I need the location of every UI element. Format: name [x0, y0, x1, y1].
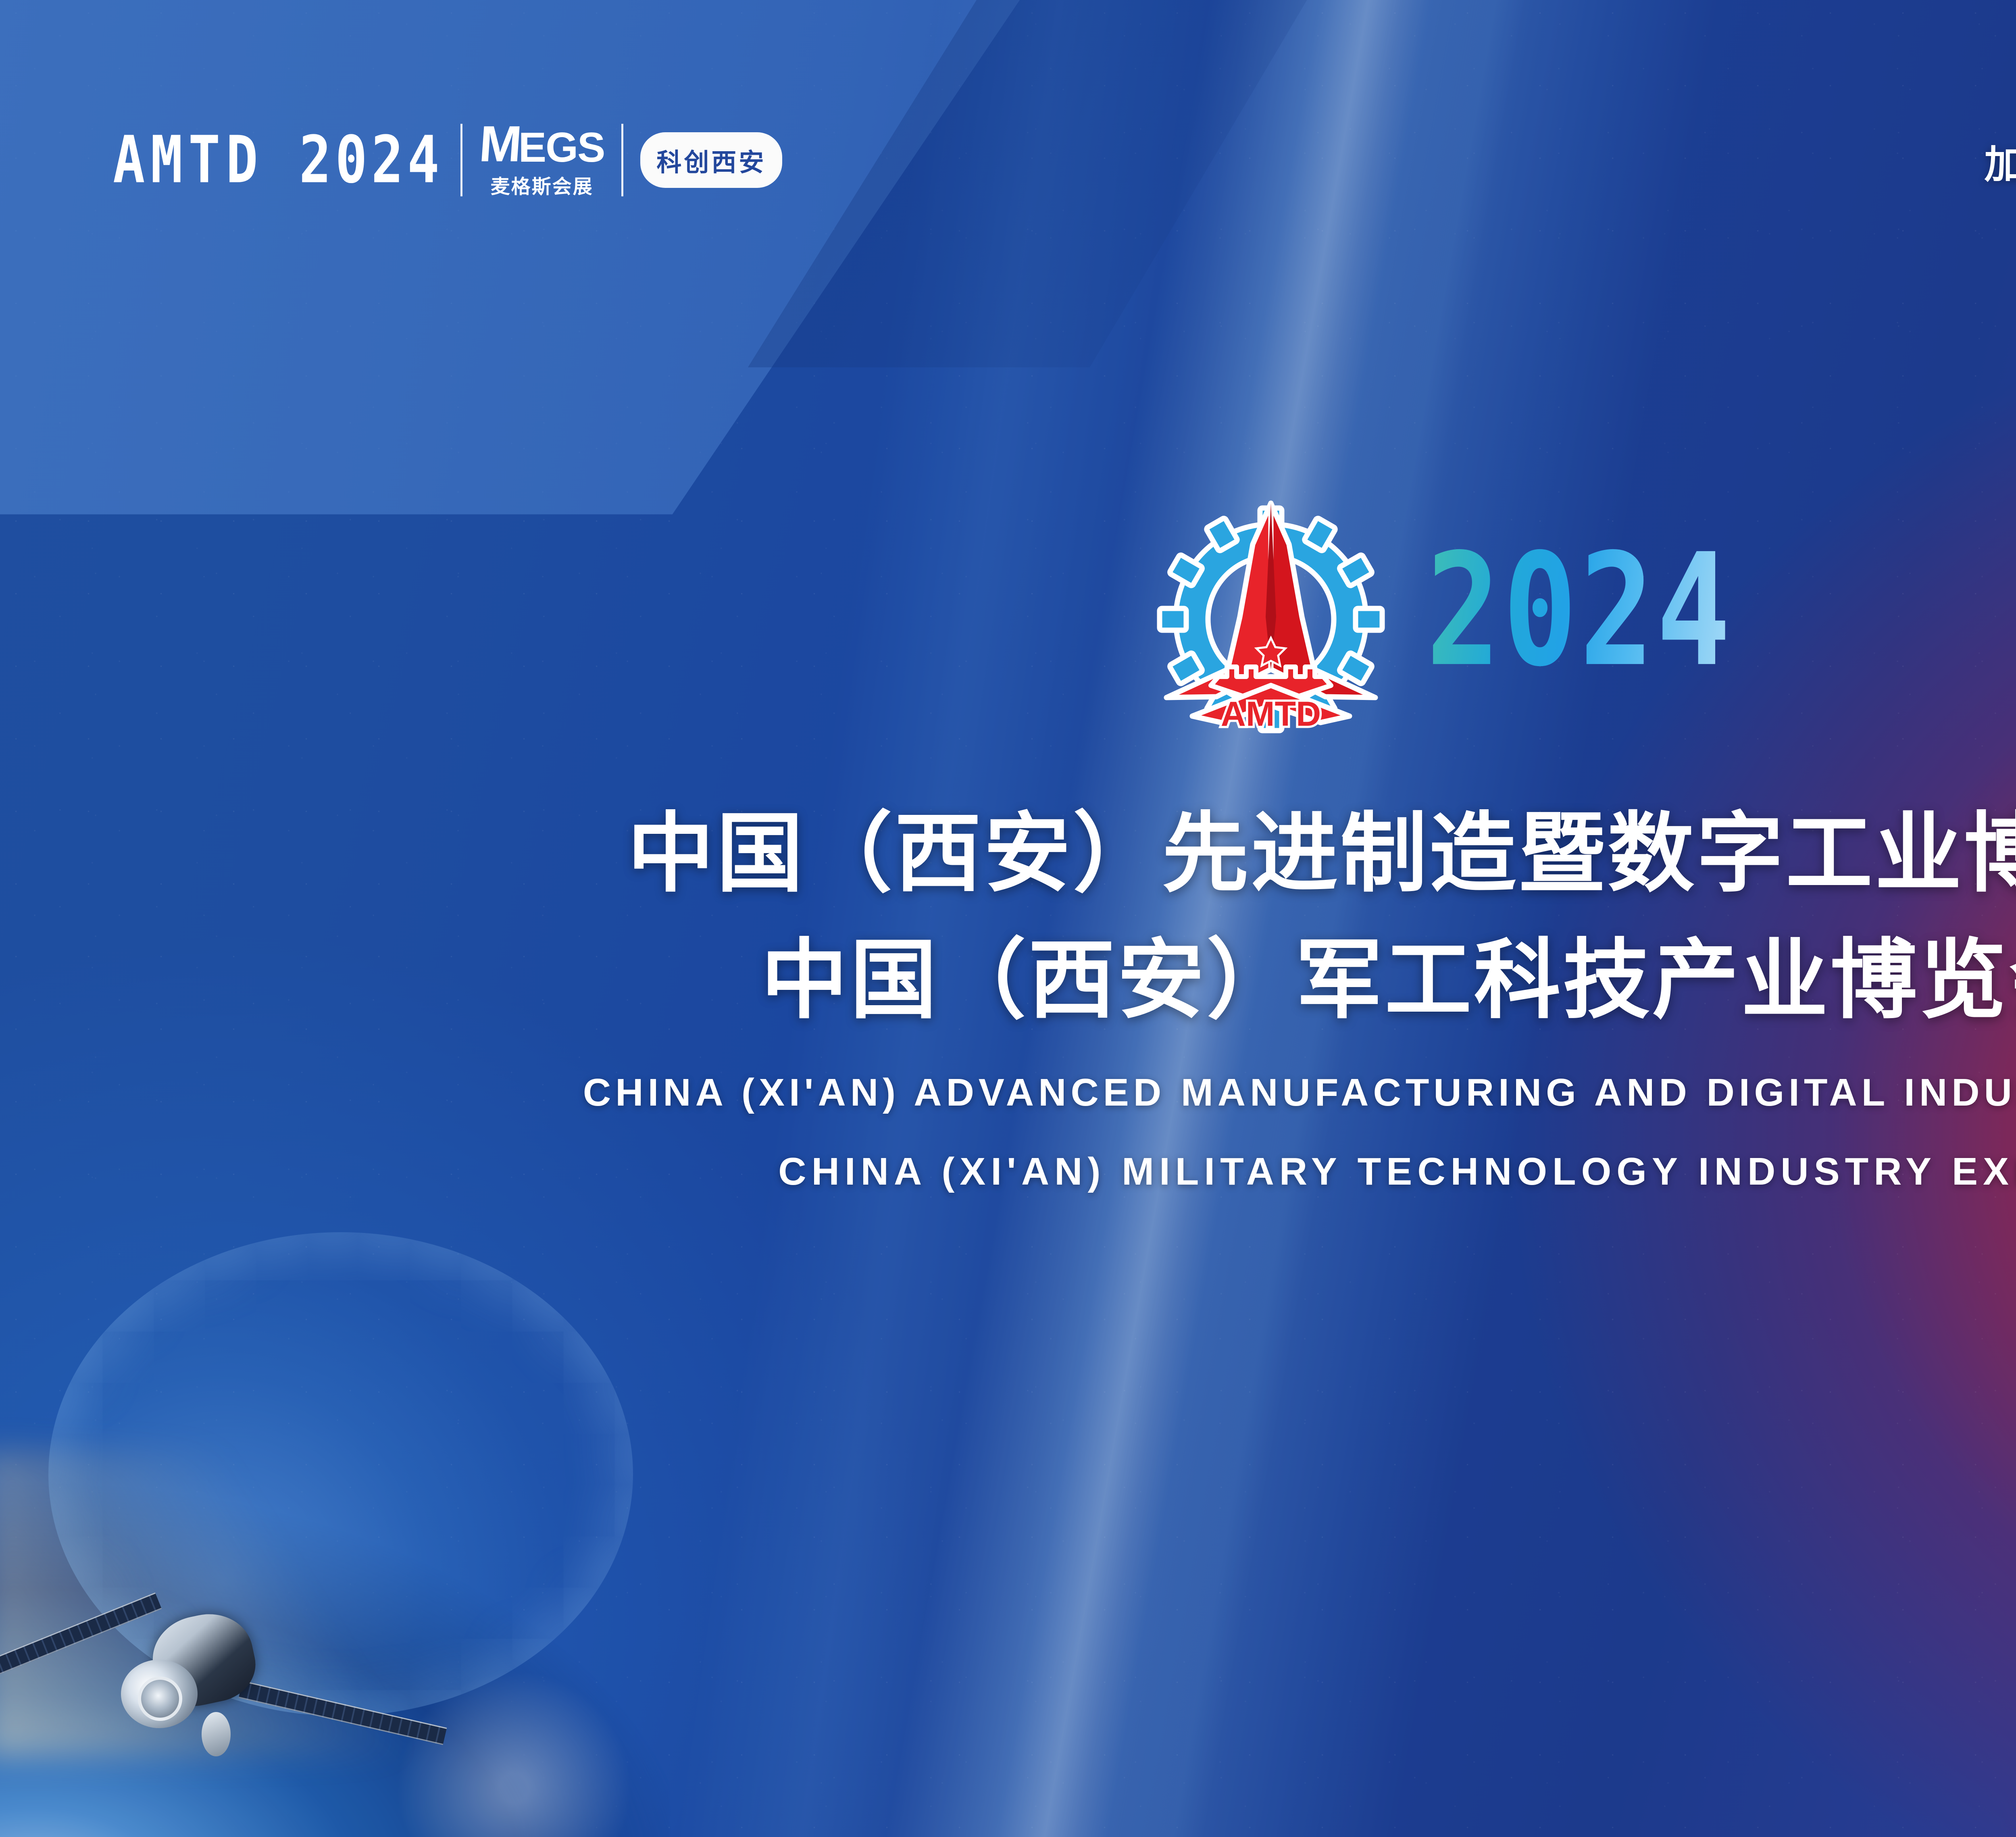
- satellite-icon: [69, 1559, 375, 1785]
- docking-ring: [138, 1677, 182, 1721]
- satellite-antenna: [202, 1712, 231, 1756]
- title-cn-line-1: 中国（西安）先进制造暨数字工业博览会: [0, 790, 2016, 917]
- kechuang-xian-badge: 科创西安: [640, 132, 782, 188]
- expo-year-large: 2024: [1426, 533, 1733, 688]
- brand-year: 2024: [299, 127, 444, 192]
- megs-rest-glyph: EGS: [519, 129, 605, 167]
- megs-wordmark: M EGS: [479, 121, 605, 167]
- title-block: 中国（西安）先进制造暨数字工业博览会 中国（西安）军工科技产业博览会 CHINA…: [0, 790, 2016, 1201]
- brand-lockup: AMTD 2024 M EGS 麦格斯会展 科创西安: [113, 121, 782, 199]
- brand-abbr: AMTD: [113, 127, 264, 192]
- title-en-line-2: CHINA (XI'AN) MILITARY TECHNOLOGY INDUST…: [0, 1142, 2016, 1202]
- organizer-name-cn: 麦格斯会展: [491, 171, 594, 199]
- organizer-logo: M EGS 麦格斯会展: [479, 121, 605, 199]
- title-cn-line-2: 中国（西安）军工科技产业博览会: [0, 917, 2016, 1043]
- emblem-wordmark: AMTD: [1221, 695, 1321, 733]
- expo-banner: 10 10 10 10 10 AMTD 2024: [0, 0, 2016, 1837]
- divider-1: [460, 124, 462, 196]
- title-en-line-1: CHINA (XI'AN) ADVANCED MANUFACTURING AND…: [0, 1063, 2016, 1123]
- megs-m-glyph: M: [478, 121, 523, 167]
- amtd-emblem-icon: AMTD: [1132, 496, 1410, 738]
- divider-2: [621, 124, 623, 196]
- header-slogan: 加快发展新质生产力 赋能工业数字化转型: [1984, 133, 2016, 189]
- banner-header: AMTD 2024 M EGS 麦格斯会展 科创西安 加快发展新质生产力 赋能工…: [0, 0, 2016, 250]
- emblem-row: AMTD 2024: [0, 496, 2016, 738]
